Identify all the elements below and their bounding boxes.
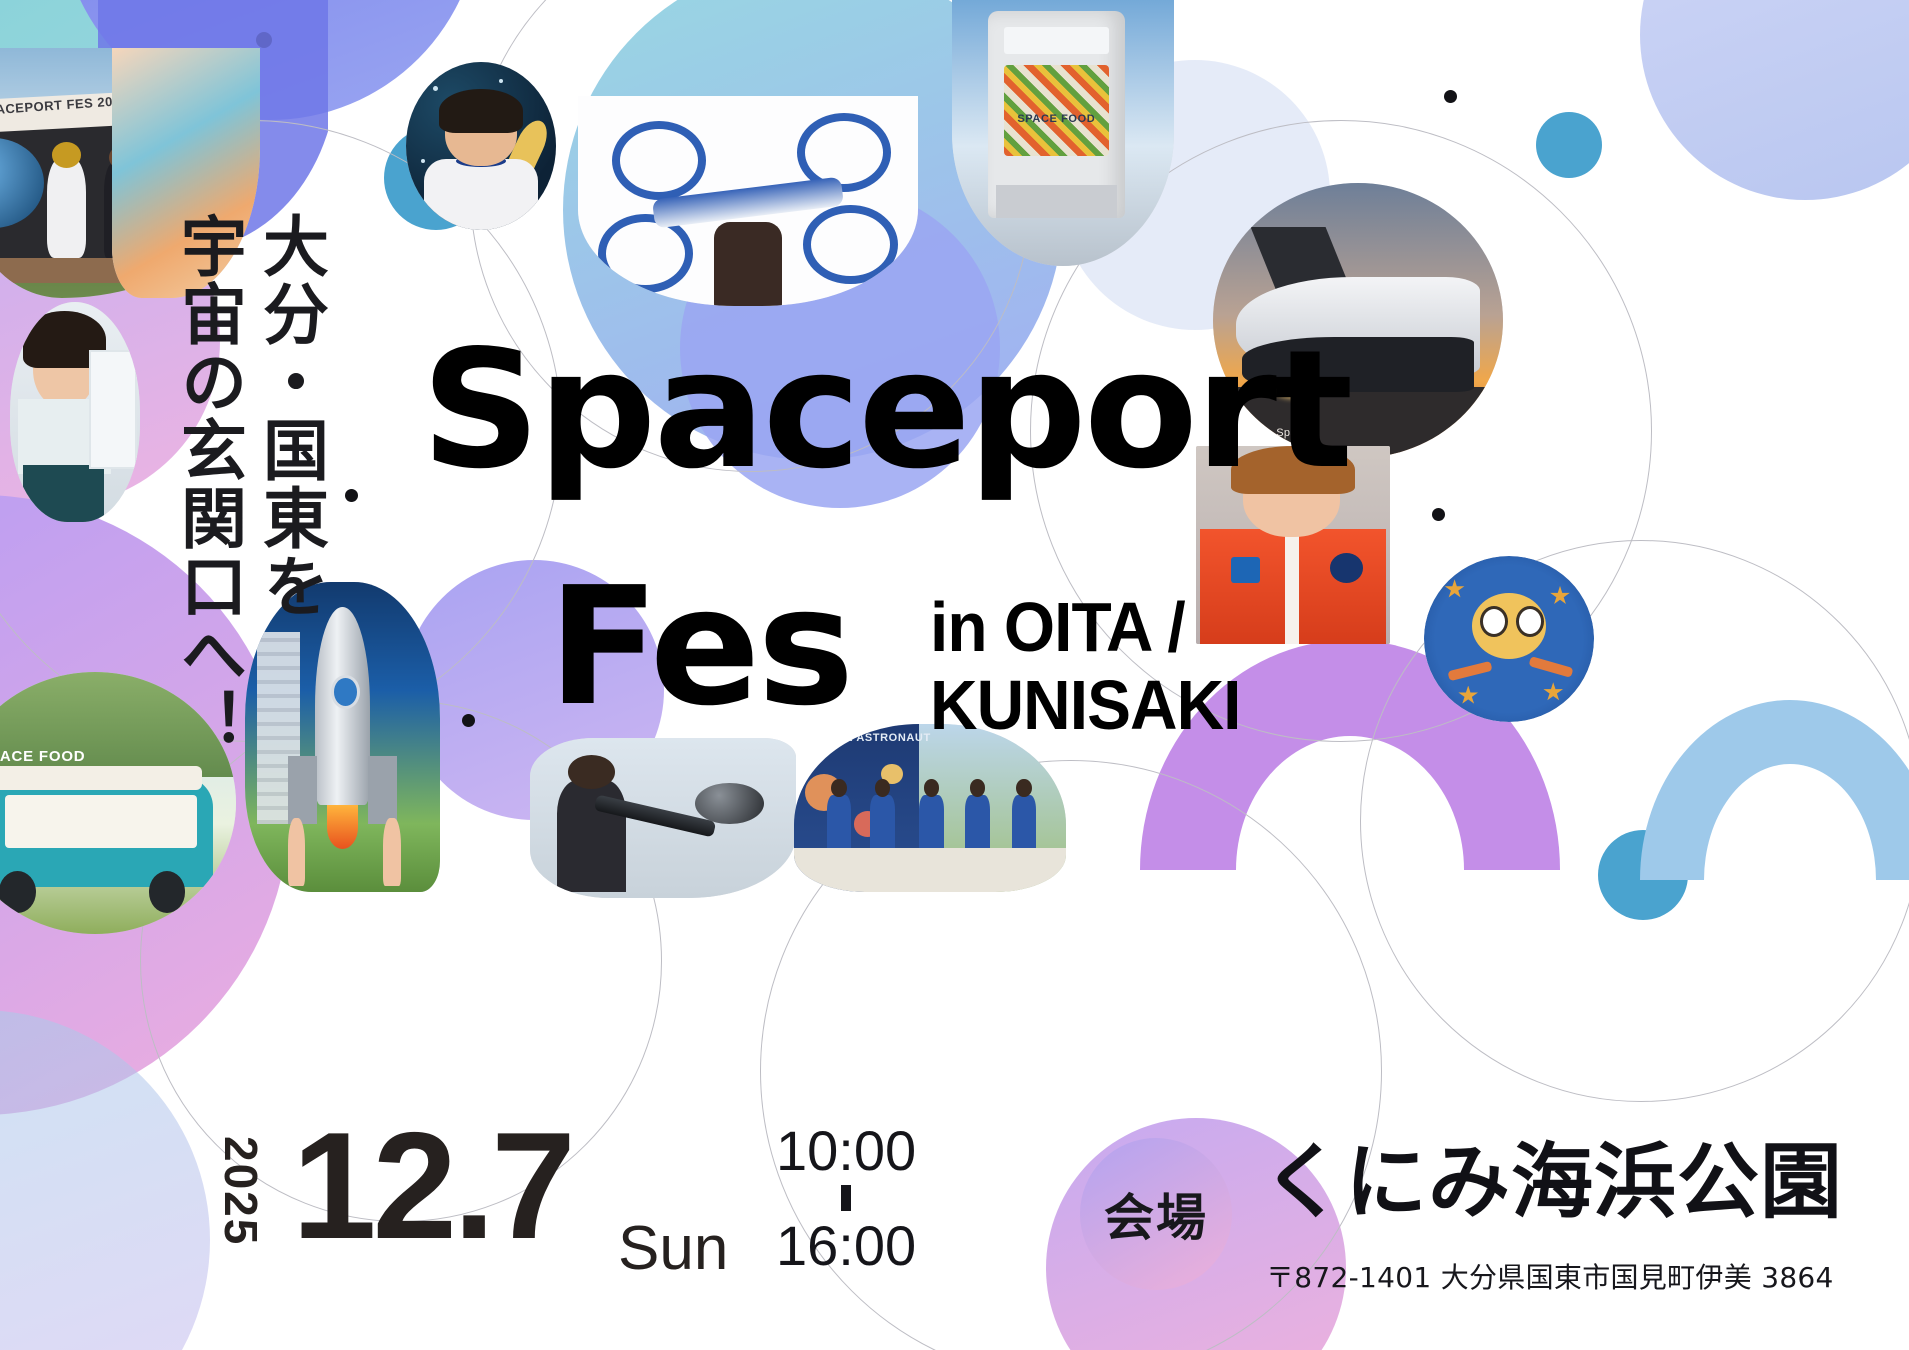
- venue-badge-label: 会場: [1104, 1178, 1208, 1250]
- photo-rocket-food-art: [1424, 556, 1594, 722]
- event-time: 10:00 16:00: [776, 1122, 916, 1274]
- venue-badge: 会場: [1080, 1138, 1232, 1290]
- photo-microphone: [530, 738, 796, 898]
- time-separator-dash: [841, 1185, 851, 1211]
- space-food-pack-text: SPACE FOOD: [988, 113, 1126, 125]
- decor-circle-blue-dot-topright: [1536, 112, 1602, 178]
- spaceplane-credit: ©Sierra Space: [1233, 427, 1309, 439]
- event-poster: SPACEPORT FES 2025: [0, 0, 1909, 1350]
- event-year: 2025: [214, 1136, 268, 1246]
- photo-space-food-pouch: SPACE FOOD: [952, 0, 1174, 266]
- photo-girl-astronaut: [1196, 446, 1390, 644]
- catchcopy-right: 大分・国東を: [242, 212, 338, 620]
- photo-dream-chaser-spaceplane: ©Sierra Space: [1213, 183, 1503, 458]
- decor-circle-lightblue-right: [1640, 0, 1909, 200]
- photo-space-workshop: FUTURE ASTRONAUT: [794, 724, 1066, 892]
- venue-address: 〒872-1401 大分県国東市国見町伊美 3864: [1266, 1256, 1834, 1296]
- photo-kid-astronaut: [406, 62, 556, 230]
- photo-rocket-model: [245, 582, 440, 892]
- event-date: 12.7: [292, 1110, 572, 1262]
- event-time-start: 10:00: [776, 1122, 916, 1179]
- venue-name: くにみ海浜公園: [1262, 1142, 1843, 1224]
- workshop-banner-text: FUTURE ASTRONAUT: [805, 732, 931, 744]
- event-weekday: Sun: [618, 1213, 728, 1284]
- photo-student-holding-panel: [10, 302, 140, 522]
- decor-dot-black-topright: [1444, 90, 1457, 103]
- photo-drone: [578, 96, 918, 306]
- event-time-end: 16:00: [776, 1217, 916, 1274]
- food-truck-text: SPACE FOOD: [0, 748, 85, 765]
- catchcopy-left: 宇宙の玄関口へ！: [160, 212, 256, 756]
